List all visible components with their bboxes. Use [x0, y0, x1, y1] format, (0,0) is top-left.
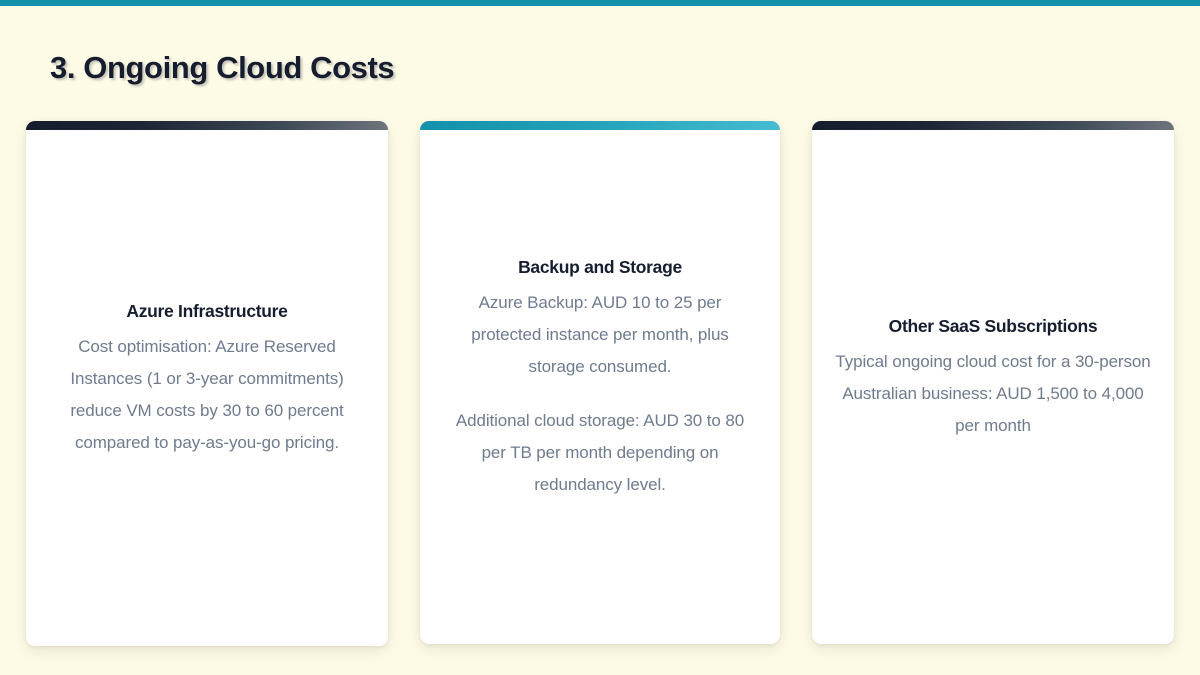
card-heading: Backup and Storage: [442, 256, 758, 279]
card-body: Backup and Storage Azure Backup: AUD 10 …: [442, 256, 758, 501]
card-paragraph: Additional cloud storage: AUD 30 to 80 p…: [442, 405, 758, 501]
card-other-saas-subscriptions[interactable]: Other SaaS Subscriptions Typical ongoing…: [812, 121, 1174, 644]
card-backup-and-storage[interactable]: Backup and Storage Azure Backup: AUD 10 …: [420, 121, 780, 644]
card-heading: Other SaaS Subscriptions: [834, 315, 1152, 338]
card-paragraph: Cost optimisation: Azure Reserved Instan…: [48, 331, 366, 459]
card-paragraph: Azure Backup: AUD 10 to 25 per protected…: [442, 287, 758, 383]
top-accent-bar: [0, 0, 1200, 6]
card-paragraph: Typical ongoing cloud cost for a 30-pers…: [834, 346, 1152, 442]
card-body: Azure Infrastructure Cost optimisation: …: [48, 300, 366, 459]
card-heading: Azure Infrastructure: [48, 300, 366, 323]
card-azure-infrastructure[interactable]: Azure Infrastructure Cost optimisation: …: [26, 121, 388, 646]
card-accent-strip: [812, 121, 1174, 130]
page-title: 3. Ongoing Cloud Costs: [50, 50, 394, 86]
cards-container: Azure Infrastructure Cost optimisation: …: [26, 121, 1174, 646]
card-body: Other SaaS Subscriptions Typical ongoing…: [834, 315, 1152, 442]
card-accent-strip: [420, 121, 780, 130]
card-accent-strip: [26, 121, 388, 130]
